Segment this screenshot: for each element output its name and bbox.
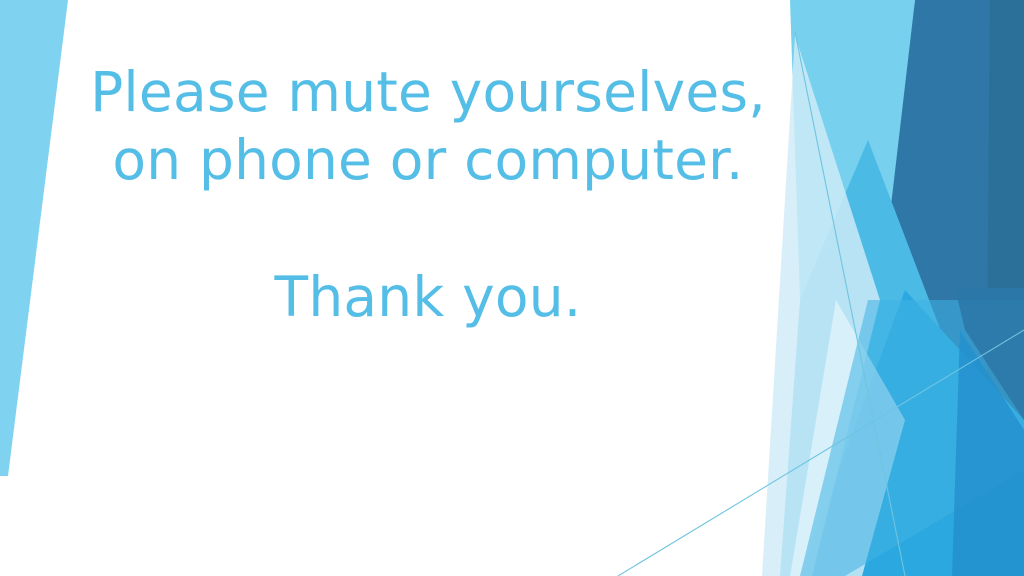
body-text-line-2: on phone or computer. — [68, 126, 788, 194]
slide-text-content: Please mute yourselves, on phone or comp… — [0, 0, 1024, 576]
presentation-slide: Please mute yourselves, on phone or comp… — [0, 0, 1024, 576]
body-text-thank-you: Thank you. — [68, 263, 788, 331]
body-text-line-1: Please mute yourselves, — [68, 58, 788, 126]
